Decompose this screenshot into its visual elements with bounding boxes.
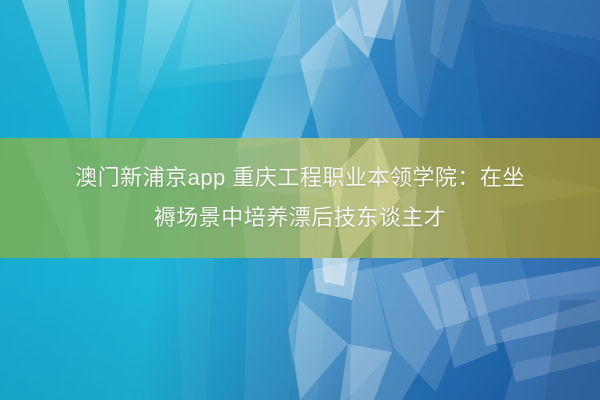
caption-band: 澳门新浦京app 重庆工程职业本领学院：在坐 褥场景中培养漂后技东谈主才 [0, 138, 600, 258]
caption-line-2: 褥场景中培养漂后技东谈主才 [20, 198, 580, 238]
banner-image: 澳门新浦京app 重庆工程职业本领学院：在坐 褥场景中培养漂后技东谈主才 [0, 0, 600, 400]
caption-text: 澳门新浦京app 重庆工程职业本领学院：在坐 褥场景中培养漂后技东谈主才 [20, 158, 580, 238]
caption-line-1: 澳门新浦京app 重庆工程职业本领学院：在坐 [20, 158, 580, 198]
